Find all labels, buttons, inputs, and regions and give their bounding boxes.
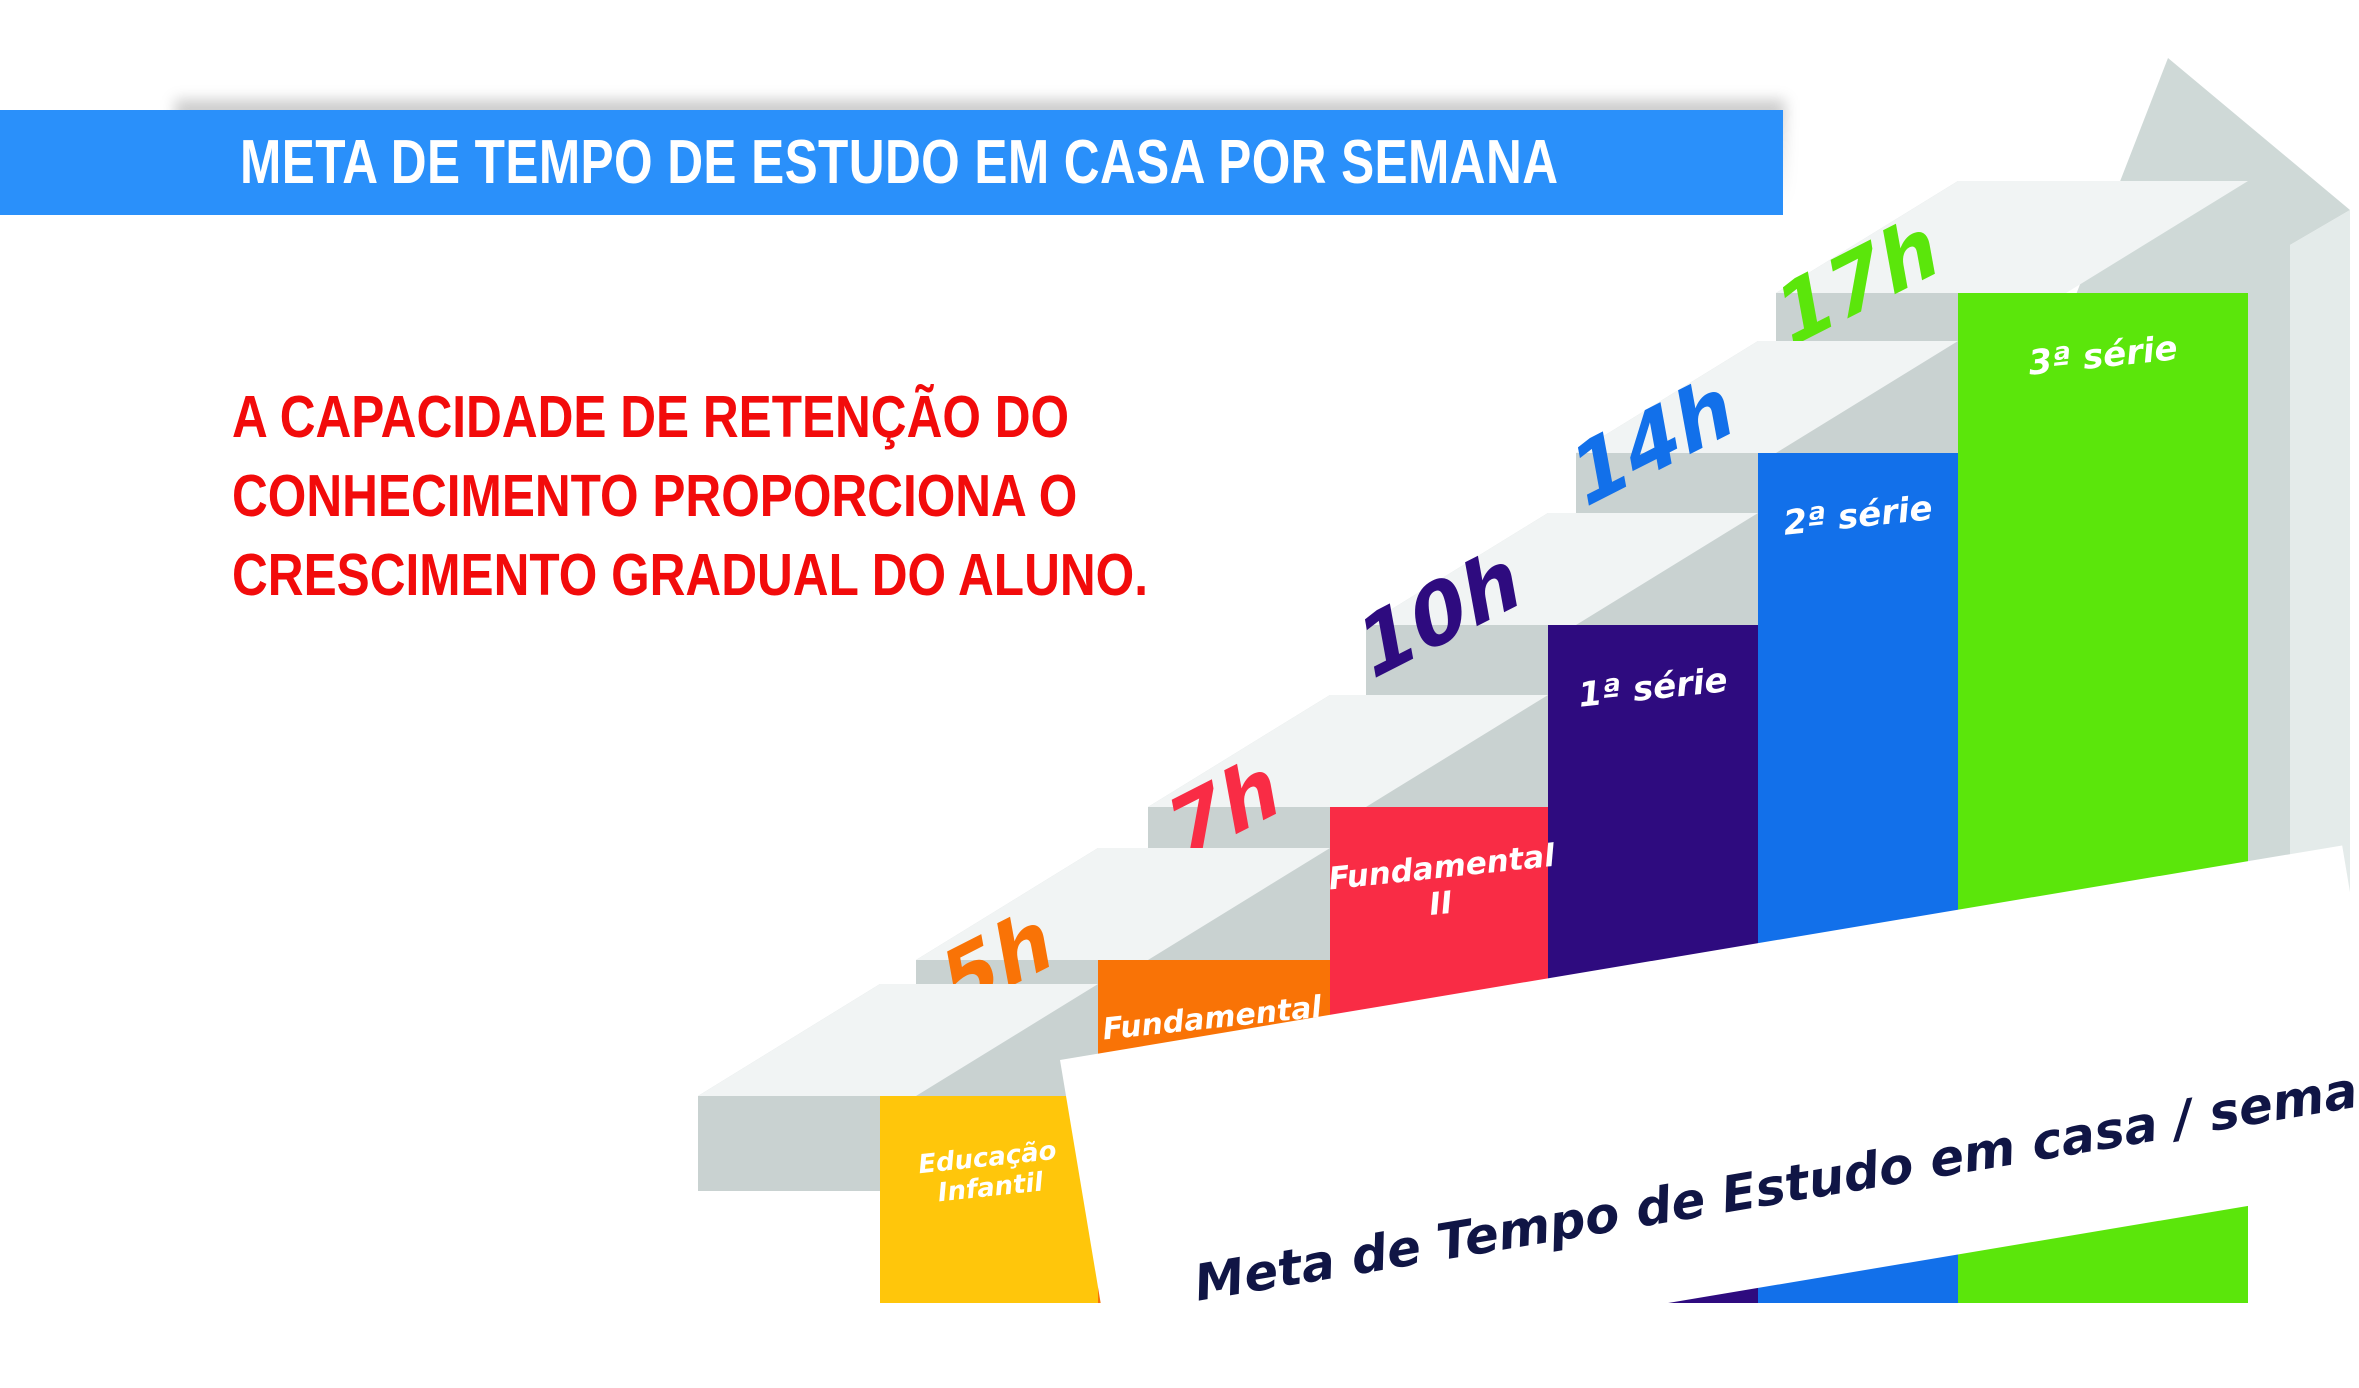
statement-line-2: CONHECIMENTO PROPORCIONA O xyxy=(232,457,988,536)
infographic-canvas: 17h 3ª série 14h 2ª série 10h 1ª série 7… xyxy=(0,0,2359,1388)
title-banner: META DE TEMPO DE ESTUDO EM CASA POR SEMA… xyxy=(0,110,1783,215)
statement-line-3: CRESCIMENTO GRADUAL DO ALUNO. xyxy=(232,536,988,615)
statement-line-1: A CAPACIDADE DE RETENÇÃO DO xyxy=(232,378,988,457)
statement-block: A CAPACIDADE DE RETENÇÃO DO CONHECIMENTO… xyxy=(232,378,1132,615)
page-title: META DE TEMPO DE ESTUDO EM CASA POR SEMA… xyxy=(240,127,1558,198)
bar-educacao-infantil[interactable]: EducaçãoInfantil xyxy=(880,1096,1098,1303)
